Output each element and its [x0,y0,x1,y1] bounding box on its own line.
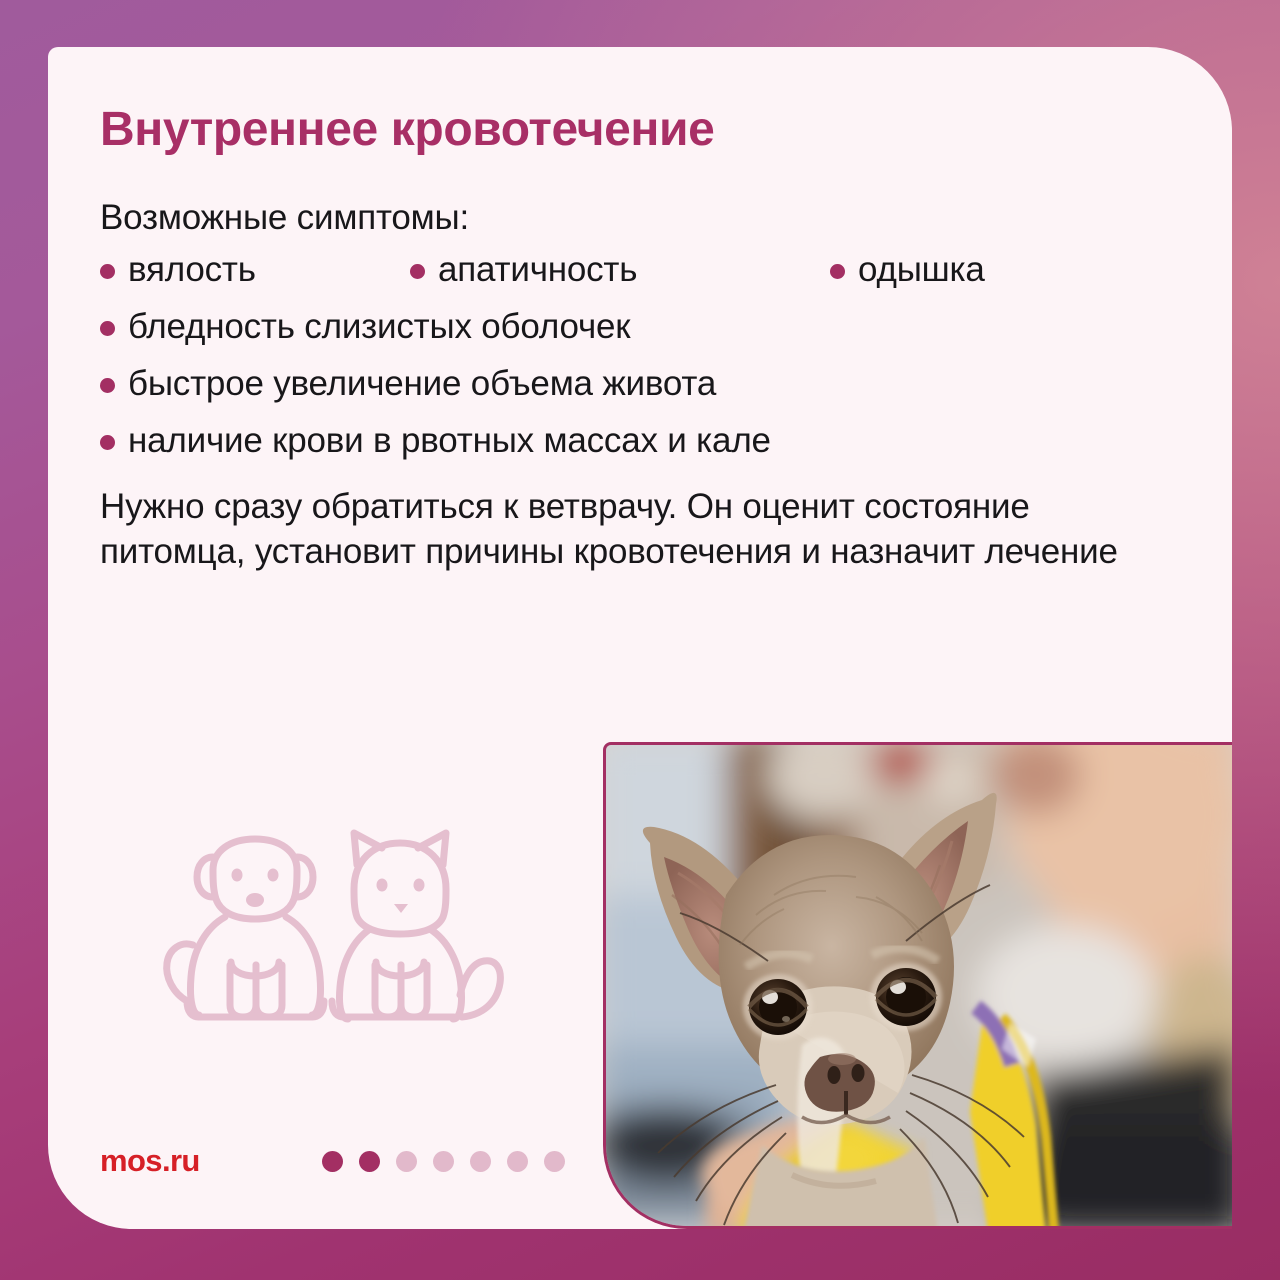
list-item: апатичность [410,250,830,290]
bullet-dot-icon [410,264,425,279]
bullet-dot-icon [100,435,115,450]
pagination-dot-7[interactable] [544,1151,565,1172]
list-item: быстрое увеличение объема живота [100,364,716,404]
content-card: Внутреннее кровотечение Возможные симпто… [48,47,1232,1229]
list-item-label: наличие крови в рвотных массах и кале [128,421,771,461]
symptoms-row-inline: вялость апатичность одышка [100,250,1130,307]
pagination-dot-3[interactable] [396,1151,417,1172]
symptoms-row: бледность слизистых оболочек [100,307,1130,364]
bullet-dot-icon [830,264,845,279]
list-item: одышка [830,250,985,290]
list-item-label: апатичность [438,250,637,290]
pagination-dot-1[interactable] [322,1151,343,1172]
list-item-label: вялость [128,250,256,290]
symptoms-row: быстрое увеличение объема живота [100,364,1130,421]
advice-paragraph: Нужно сразу обратиться к ветврачу. Он оц… [100,484,1160,574]
list-item: вялость [100,250,410,290]
pagination-dot-5[interactable] [470,1151,491,1172]
list-item: бледность слизистых оболочек [100,307,630,347]
bullet-dot-icon [100,264,115,279]
page-title: Внутреннее кровотечение [100,102,714,157]
chihuahua-photo-frame [603,742,1232,1229]
pagination-dot-6[interactable] [507,1151,528,1172]
dog-outline-icon [167,839,324,1017]
bullet-dot-icon [100,321,115,336]
symptoms-lead-label: Возможные симптомы: [100,198,469,238]
mos-ru-logo[interactable]: mos.ru [100,1143,200,1179]
chihuahua-photo [606,745,1232,1226]
list-item: наличие крови в рвотных массах и кале [100,421,771,461]
symptoms-row: наличие крови в рвотных массах и кале [100,421,1130,478]
footer: mos.ru [100,1141,565,1181]
pagination-dot-4[interactable] [433,1151,454,1172]
pagination-dots[interactable] [322,1151,565,1172]
pagination-dot-2[interactable] [359,1151,380,1172]
list-item-label: бледность слизистых оболочек [128,307,630,347]
bullet-dot-icon [100,378,115,393]
list-item-label: быстрое увеличение объема живота [128,364,716,404]
symptoms-list: вялость апатичность одышка бледность сли… [100,250,1130,478]
pet-decoration [153,817,553,1067]
cat-outline-icon [332,833,500,1019]
list-item-label: одышка [858,250,985,290]
